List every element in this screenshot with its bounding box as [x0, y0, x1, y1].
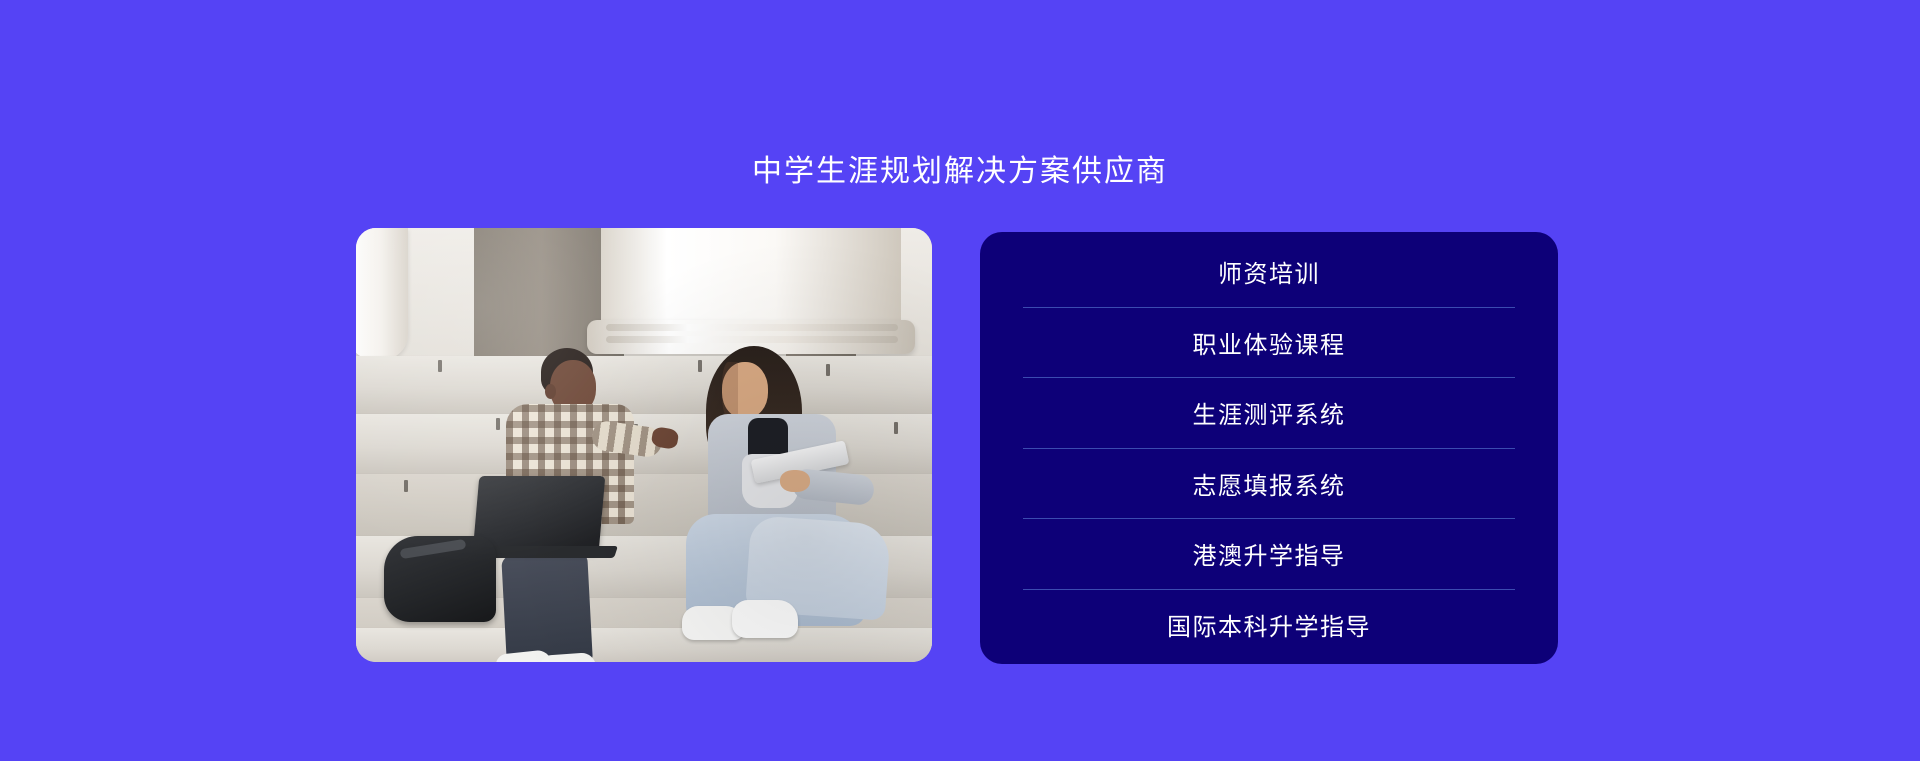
- menu-item-label: 志愿填报系统: [1193, 466, 1346, 501]
- menu-item-career-experience-course[interactable]: 职业体验课程: [1023, 307, 1515, 378]
- page-root: 中学生涯规划解决方案供应商: [0, 0, 1920, 761]
- step-notch: [438, 360, 442, 372]
- student-right-shoe: [732, 600, 798, 638]
- page-title: 中学生涯规划解决方案供应商: [0, 152, 1920, 192]
- hero-photo: [356, 228, 932, 662]
- menu-item-label: 生涯测评系统: [1193, 395, 1346, 430]
- student-left-ear: [545, 384, 556, 399]
- step-riser-6: [356, 628, 932, 662]
- step-riser-1: [356, 356, 932, 414]
- step-notch: [894, 422, 898, 434]
- step-notch: [698, 360, 702, 372]
- menu-item-label: 国际本科升学指导: [1167, 607, 1371, 642]
- menu-item-career-assessment-system[interactable]: 生涯测评系统: [1023, 377, 1515, 448]
- menu-item-application-system[interactable]: 志愿填报系统: [1023, 448, 1515, 519]
- student-left-jeans: [501, 552, 593, 662]
- menu-item-hk-macau-guidance[interactable]: 港澳升学指导: [1023, 518, 1515, 589]
- laptop: [473, 476, 606, 552]
- menu-item-international-undergraduate-guidance[interactable]: 国际本科升学指导: [1023, 589, 1515, 660]
- column-ring-1: [606, 324, 898, 331]
- menu-item-label: 职业体验课程: [1193, 325, 1346, 360]
- step-notch: [496, 418, 500, 430]
- menu-item-label: 港澳升学指导: [1193, 536, 1346, 571]
- step-notch: [404, 480, 408, 492]
- menu-item-teacher-training[interactable]: 师资培训: [1023, 237, 1515, 307]
- step-notch: [826, 364, 830, 376]
- content-row: 师资培训 职业体验课程 生涯测评系统 志愿填报系统 港澳升学指导 国际本科升学指…: [356, 228, 1558, 664]
- column-ring-2: [606, 336, 898, 343]
- photo-scene: [356, 228, 932, 662]
- menu-item-label: 师资培训: [1218, 254, 1320, 289]
- student-right-face-shadow: [722, 362, 738, 418]
- column-small: [356, 228, 408, 360]
- services-menu-card: 师资培训 职业体验课程 生涯测评系统 志愿填报系统 港澳升学指导 国际本科升学指…: [980, 232, 1558, 664]
- student-right-hand: [780, 470, 810, 492]
